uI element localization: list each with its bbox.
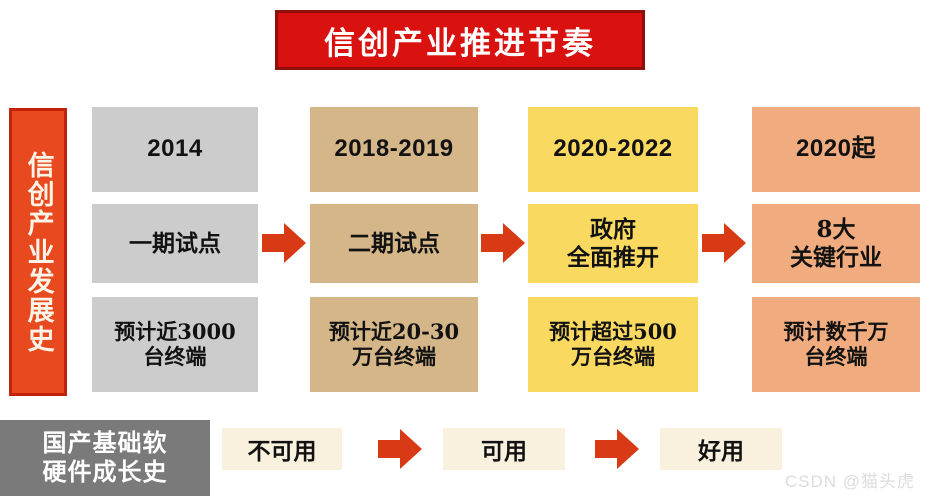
cell-col3-scale: 预计超过500 万台终端 xyxy=(528,297,698,392)
bottom-row-label-line2: 硬件成长史 xyxy=(43,457,168,486)
cell-col3-scale-line1: 预计超过500 xyxy=(549,319,677,344)
state-box-unusable-text: 不可用 xyxy=(248,432,317,466)
cell-col2-year-text: 2018-2019 xyxy=(334,135,453,163)
page-title: 信创产业推进节奏 xyxy=(324,18,596,63)
cell-col1-phase: 一期试点 xyxy=(92,204,258,283)
cell-col3-phase-line2: 全面推开 xyxy=(567,244,659,271)
state-box-unusable: 不可用 xyxy=(222,428,342,470)
cell-col4-scale-text: 预计数千万 台终端 xyxy=(784,320,889,370)
state-box-good: 好用 xyxy=(660,428,782,470)
arrow-head xyxy=(617,429,639,469)
cell-col4-phase: 8大 关键行业 xyxy=(752,204,920,283)
cell-col2-scale: 预计近20-30 万台终端 xyxy=(310,297,478,392)
cell-col2-year: 2018-2019 xyxy=(310,107,478,192)
watermark: CSDN @猫头虎 xyxy=(785,467,915,492)
cell-col4-scale: 预计数千万 台终端 xyxy=(752,297,920,392)
cell-col4-phase-line2: 关键行业 xyxy=(790,244,882,271)
bottom-row-label: 国产基础软 硬件成长史 xyxy=(0,420,210,496)
arrow-head xyxy=(503,223,525,263)
arrow-head xyxy=(400,429,422,469)
state-box-usable: 可用 xyxy=(443,428,565,470)
cell-col1-year: 2014 xyxy=(92,107,258,192)
state-box-good-text: 好用 xyxy=(698,432,744,466)
cell-col1-phase-text: 一期试点 xyxy=(129,230,221,257)
page-title-banner: 信创产业推进节奏 xyxy=(275,10,645,70)
cell-col1-scale-text: 预计近3000 台终端 xyxy=(114,320,235,370)
cell-col3-year-text: 2020-2022 xyxy=(553,135,672,163)
cell-col2-scale-line2: 万台终端 xyxy=(352,344,436,369)
cell-col4-year-text: 2020起 xyxy=(796,135,876,163)
cell-col4-scale-line1: 预计数千万 xyxy=(784,319,889,344)
cell-col3-phase-line1: 政府 xyxy=(590,216,636,243)
cell-col4-year: 2020起 xyxy=(752,107,920,192)
cell-col2-scale-line1: 预计近20-30 xyxy=(329,319,459,344)
sidebar-vertical-label: 信创产业发展史 xyxy=(9,108,67,396)
cell-col2-scale-text: 预计近20-30 万台终端 xyxy=(329,320,459,370)
arrow-head xyxy=(724,223,746,263)
cell-col3-scale-text: 预计超过500 万台终端 xyxy=(549,320,677,370)
cell-col2-phase: 二期试点 xyxy=(310,204,478,283)
bottom-row-label-line1: 国产基础软 xyxy=(43,428,168,457)
cell-col3-scale-line2: 万台终端 xyxy=(571,344,655,369)
cell-col1-scale-line2: 台终端 xyxy=(143,344,206,369)
cell-col4-scale-line2: 台终端 xyxy=(805,344,868,369)
arrow-head xyxy=(284,223,306,263)
cell-col3-phase: 政府 全面推开 xyxy=(528,204,698,283)
bottom-row-label-text: 国产基础软 硬件成长史 xyxy=(43,429,168,487)
cell-col1-scale-line1: 预计近3000 xyxy=(114,319,235,344)
cell-col3-phase-text: 政府 全面推开 xyxy=(567,216,659,270)
cell-col1-scale: 预计近3000 台终端 xyxy=(92,297,258,392)
cell-col4-phase-text: 8大 关键行业 xyxy=(790,216,882,270)
state-box-usable-text: 可用 xyxy=(481,432,527,466)
cell-col2-phase-text: 二期试点 xyxy=(348,230,440,257)
cell-col3-year: 2020-2022 xyxy=(528,107,698,192)
cell-col4-phase-line1: 8大 xyxy=(816,216,855,243)
cell-col1-year-text: 2014 xyxy=(147,135,202,163)
sidebar-vertical-label-text: 信创产业发展史 xyxy=(23,151,52,354)
